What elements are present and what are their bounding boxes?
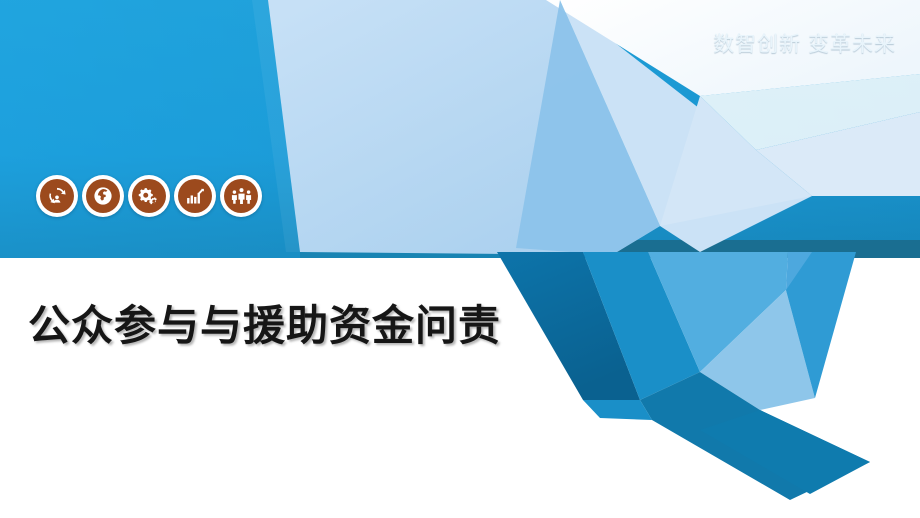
presentation-slide: 数智创新 变革未来 bbox=[0, 0, 920, 518]
page-title: 公众参与与援助资金问责 bbox=[28, 292, 501, 353]
deep-blade-bottom-2 bbox=[583, 400, 652, 420]
background-artwork bbox=[0, 0, 920, 518]
icon-badge-recycle-growth[interactable] bbox=[36, 175, 78, 217]
icon-badge-people-group[interactable] bbox=[220, 175, 262, 217]
recycle-growth-icon bbox=[40, 179, 74, 213]
gears-icon bbox=[132, 179, 166, 213]
globe-icon bbox=[86, 179, 120, 213]
bar-chart-growth-icon bbox=[178, 179, 212, 213]
icon-badge-globe[interactable] bbox=[82, 175, 124, 217]
people-group-icon bbox=[224, 179, 258, 213]
icon-badge-gears[interactable] bbox=[128, 175, 170, 217]
icon-row bbox=[36, 175, 264, 217]
icon-badge-bar-chart-growth[interactable] bbox=[174, 175, 216, 217]
tagline-text: 数智创新 变革未来 bbox=[713, 28, 896, 58]
